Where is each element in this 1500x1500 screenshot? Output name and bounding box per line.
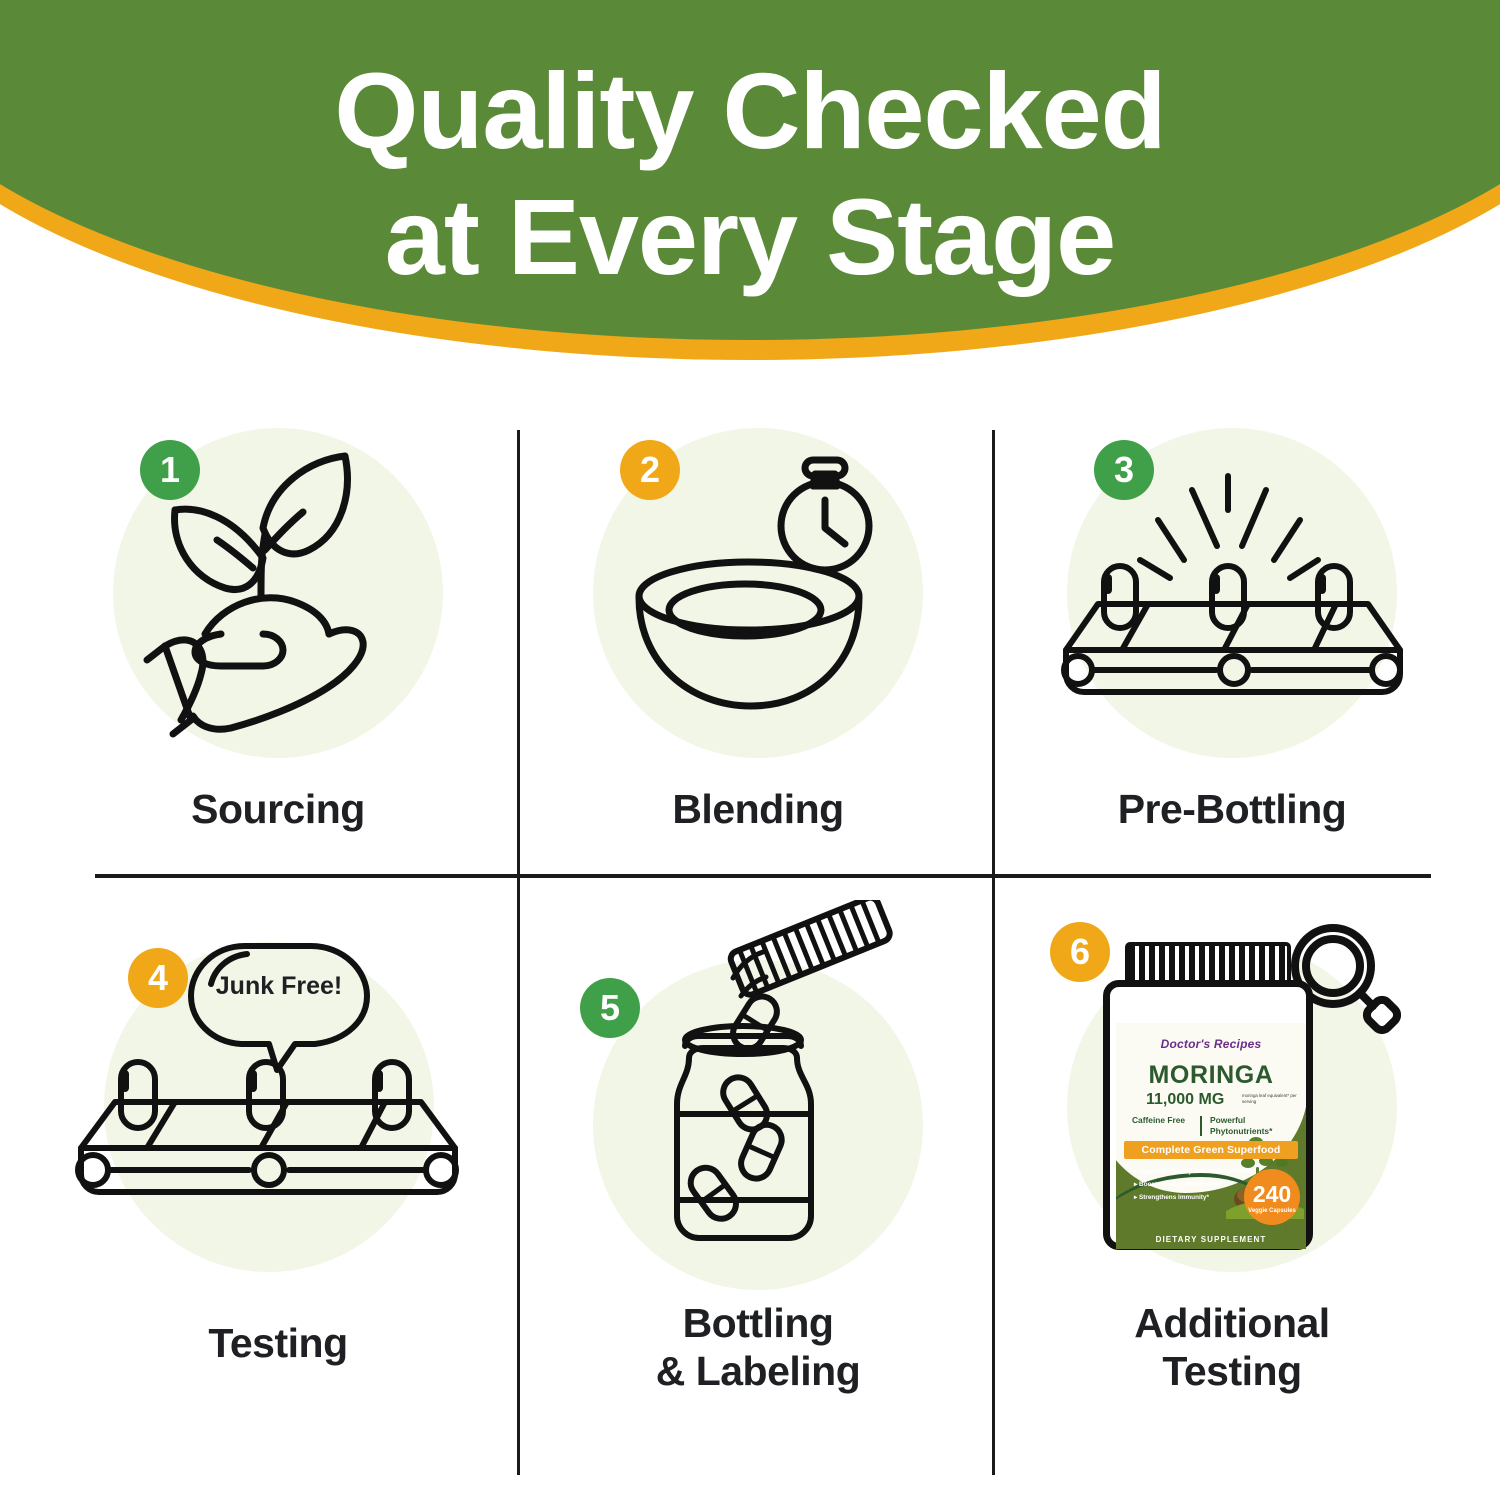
step-label-pre-bottling: Pre-Bottling bbox=[1012, 786, 1452, 834]
step-label-line-1: Additional bbox=[1012, 1300, 1452, 1348]
conveyor-capsules-speech-icon: Junk Free! bbox=[63, 910, 493, 1270]
page-title: Quality Checked at Every Stage bbox=[0, 48, 1500, 301]
grid-divider-vertical-1 bbox=[517, 430, 520, 1475]
steps-grid: 1 bbox=[0, 400, 1500, 1500]
grid-divider-horizontal bbox=[95, 874, 1431, 878]
jar-capsules-cap-icon bbox=[593, 900, 923, 1305]
supplement-bottle: Doctor's Recipes MORINGA 11,000 MG morin… bbox=[1093, 942, 1323, 1262]
supplement-bottle-magnifier-icon: Doctor's Recipes MORINGA 11,000 MG morin… bbox=[1067, 912, 1397, 1292]
label-leaf-art bbox=[1226, 1133, 1304, 1219]
bottle-label: Doctor's Recipes MORINGA 11,000 MG morin… bbox=[1116, 1023, 1306, 1249]
step-label-line-2: & Labeling bbox=[538, 1348, 978, 1396]
step-card-additional-testing[interactable]: 6 bbox=[1012, 900, 1452, 1460]
step-label-additional-testing: Additional Testing bbox=[1012, 1300, 1452, 1395]
step-number-badge-6: 6 bbox=[1050, 922, 1110, 982]
step-label-sourcing: Sourcing bbox=[58, 786, 498, 834]
step-label-line-1: Bottling bbox=[538, 1300, 978, 1348]
bottle-body: Doctor's Recipes MORINGA 11,000 MG morin… bbox=[1103, 980, 1313, 1250]
step-label-testing: Testing bbox=[58, 1320, 498, 1368]
step-card-bottling-labeling[interactable]: 5 bbox=[538, 900, 978, 1460]
page-title-line-1: Quality Checked bbox=[0, 48, 1500, 174]
step-number-badge-2: 2 bbox=[620, 440, 680, 500]
step-card-testing[interactable]: 4 bbox=[58, 900, 498, 1460]
step-label-line-2: Testing bbox=[1012, 1348, 1452, 1396]
step-label-blending: Blending bbox=[538, 786, 978, 834]
page-title-line-2: at Every Stage bbox=[0, 174, 1500, 300]
step-number-badge-5: 5 bbox=[580, 978, 640, 1038]
step-label-bottling-labeling: Bottling & Labeling bbox=[538, 1300, 978, 1395]
step-number-badge-4: 4 bbox=[128, 948, 188, 1008]
step-card-pre-bottling[interactable]: 3 bbox=[1012, 418, 1452, 868]
speech-bubble-text: Junk Free! bbox=[191, 972, 367, 1001]
step-number-badge-1: 1 bbox=[140, 440, 200, 500]
step-card-blending[interactable]: 2 Blending bbox=[538, 418, 978, 868]
step-card-sourcing[interactable]: 1 bbox=[58, 418, 498, 868]
grid-divider-vertical-2 bbox=[992, 430, 995, 1475]
step-number-badge-3: 3 bbox=[1094, 440, 1154, 500]
bottle-cap bbox=[1125, 942, 1291, 984]
